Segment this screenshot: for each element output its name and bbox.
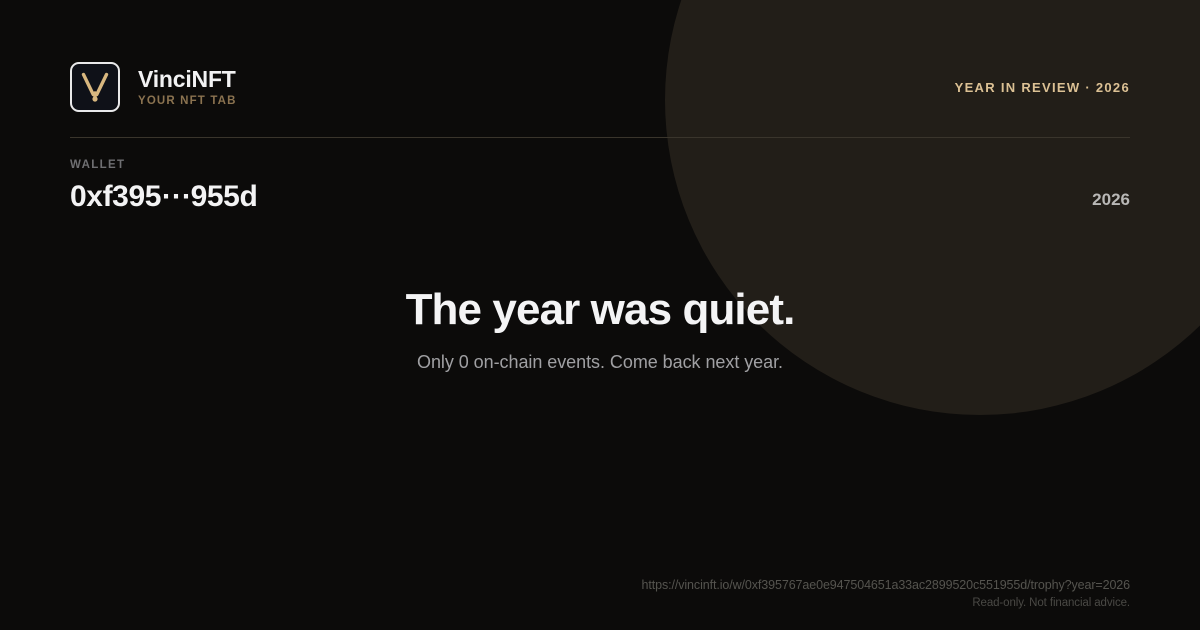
footer-disclaimer: Read-only. Not financial advice.	[642, 595, 1130, 612]
brand-lockup: VinciNFT YOUR NFT TAB	[70, 62, 237, 112]
wallet-block: WALLET 0xf395⋯955d	[70, 160, 257, 213]
brand-tagline: YOUR NFT TAB	[138, 95, 237, 107]
wallet-label: WALLET	[70, 160, 257, 172]
headline: The year was quiet.	[0, 285, 1200, 336]
wallet-address: 0xf395⋯955d	[70, 180, 257, 213]
brand-text: VinciNFT YOUR NFT TAB	[138, 67, 237, 106]
empty-state-message: The year was quiet. Only 0 on-chain even…	[0, 285, 1200, 373]
wallet-year: 2026	[1092, 191, 1130, 213]
card-content: VinciNFT YOUR NFT TAB YEAR IN REVIEW · 2…	[0, 0, 1200, 630]
subline: Only 0 on-chain events. Come back next y…	[0, 352, 1200, 374]
logo-tile	[70, 62, 120, 112]
header: VinciNFT YOUR NFT TAB YEAR IN REVIEW · 2…	[70, 58, 1130, 116]
year-in-review-badge: YEAR IN REVIEW · 2026	[955, 80, 1130, 95]
wallet-row: WALLET 0xf395⋯955d 2026	[70, 160, 1130, 213]
header-divider	[70, 137, 1130, 138]
v-pendant-icon	[80, 70, 110, 104]
year-in-review-card: VinciNFT YOUR NFT TAB YEAR IN REVIEW · 2…	[0, 0, 1200, 630]
brand-name: VinciNFT	[138, 67, 237, 91]
footer-url-link[interactable]: https://vincinft.io/w/0xf395767ae0e94750…	[642, 576, 1130, 595]
footer: https://vincinft.io/w/0xf395767ae0e94750…	[642, 576, 1130, 612]
